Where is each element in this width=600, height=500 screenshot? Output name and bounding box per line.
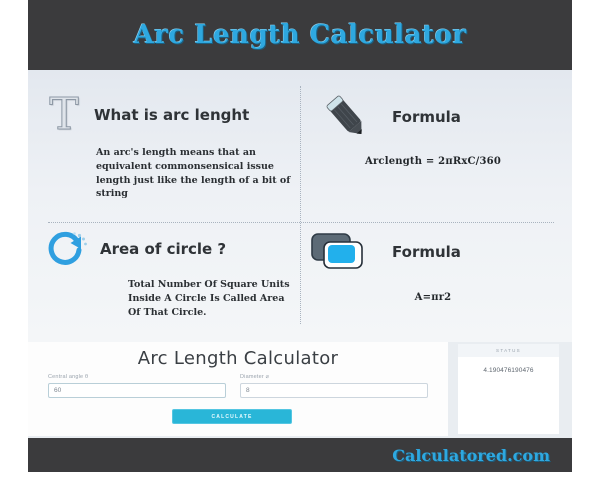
info-block-formula-area-title: Formula <box>392 243 461 261</box>
page-header: Arc Length Calculator <box>28 0 572 70</box>
info-block-formula-area: Formula A=πr2 <box>308 228 548 303</box>
info-block-area-of-circle: Area of circle ? Total Number Of Square … <box>44 228 292 319</box>
info-block-formula-arc-head: Formula <box>318 92 548 142</box>
central-angle-label: Central angle θ <box>48 374 226 380</box>
info-block-area-of-circle-body: Total Number Of Square Units Inside A Ci… <box>128 278 292 319</box>
calculate-button[interactable]: CALCULATE <box>172 409 292 424</box>
calculator-title: Arc Length Calculator <box>28 348 448 369</box>
page-footer: Calculatored.com <box>28 438 572 472</box>
overlapping-rectangles-icon <box>308 228 374 276</box>
status-panel-header: STATUS <box>458 344 559 357</box>
page-title: Arc Length Calculator <box>133 20 466 50</box>
status-panel: STATUS 4.190476190476 <box>458 344 559 434</box>
info-block-arc-length: T What is arc lenght An arc's length mea… <box>44 92 292 201</box>
arc-length-formula: Arclength = 2πRxC/360 <box>318 156 548 167</box>
diameter-field-group: Diameter ⌀ 8 <box>240 374 428 398</box>
serif-t-glyph-icon: T <box>44 92 84 138</box>
diameter-value: 8 <box>246 387 250 394</box>
status-result-value: 4.190476190476 <box>458 367 559 374</box>
vertical-divider <box>300 86 301 324</box>
footer-brand[interactable]: Calculatored.com <box>392 446 550 465</box>
info-block-formula-area-head: Formula <box>308 228 548 276</box>
info-block-arc-length-body: An arc's length means that an equivalent… <box>96 146 292 201</box>
infographic-page: Arc Length Calculator T What is arc leng… <box>0 0 600 500</box>
info-block-area-of-circle-title: Area of circle ? <box>100 240 226 258</box>
diameter-input[interactable]: 8 <box>240 383 428 398</box>
info-block-formula-arc-title: Formula <box>392 108 461 126</box>
central-angle-input[interactable]: 60 <box>48 383 226 398</box>
calculate-button-label: CALCULATE <box>212 414 253 420</box>
status-panel-header-label: STATUS <box>496 348 521 353</box>
circular-arrow-icon <box>44 228 90 270</box>
info-block-area-of-circle-head: Area of circle ? <box>44 228 292 270</box>
diameter-label: Diameter ⌀ <box>240 374 428 380</box>
horizontal-divider <box>48 222 554 223</box>
info-block-arc-length-title: What is arc lenght <box>94 106 249 124</box>
central-angle-value: 60 <box>54 387 61 394</box>
info-block-formula-arc: Formula Arclength = 2πRxC/360 <box>318 92 548 167</box>
central-angle-field-group: Central angle θ 60 <box>48 374 226 398</box>
info-block-arc-length-head: T What is arc lenght <box>44 92 292 138</box>
area-formula: A=πr2 <box>318 292 548 303</box>
pencil-icon <box>318 92 374 142</box>
